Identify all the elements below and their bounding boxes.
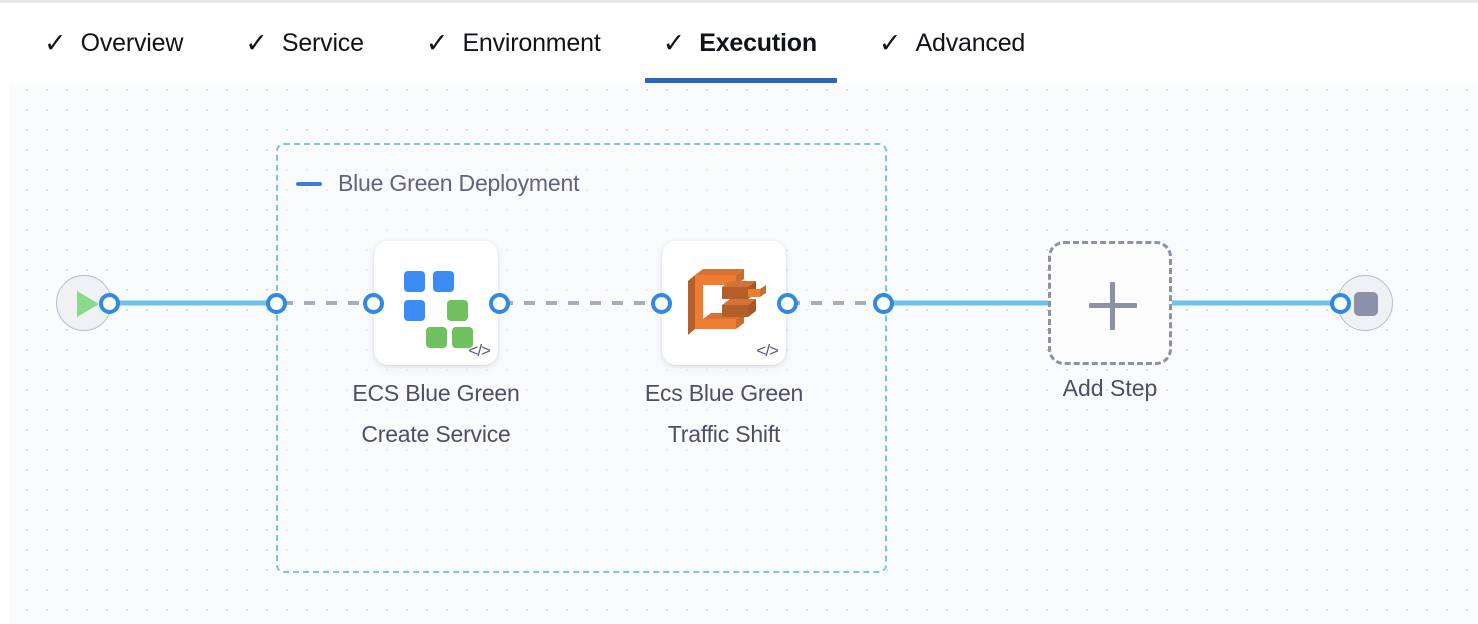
connector-dot-step2-in[interactable] <box>651 293 672 314</box>
add-step-node[interactable]: Add Step <box>1048 241 1172 365</box>
connector-dot-step1-in[interactable] <box>363 293 384 314</box>
check-icon: ✓ <box>879 30 902 57</box>
tab-environment[interactable]: ✓ Environment <box>426 3 601 83</box>
check-icon: ✓ <box>663 30 686 57</box>
connector-dot-step2-out[interactable] <box>777 293 798 314</box>
connector-dot-end-in[interactable] <box>1330 293 1351 314</box>
code-badge-icon: </> <box>468 341 490 361</box>
tab-advanced[interactable]: ✓ Advanced <box>879 3 1025 83</box>
pipeline-canvas[interactable]: Blue Green Deployment <box>0 83 1478 624</box>
step-label: Ecs Blue Green Traffic Shift <box>604 373 844 455</box>
step-group-title: Blue Green Deployment <box>338 170 579 197</box>
check-icon: ✓ <box>44 30 67 57</box>
check-icon: ✓ <box>426 30 449 57</box>
code-badge-icon: </> <box>756 341 778 361</box>
tab-execution[interactable]: ✓ Execution <box>663 3 817 83</box>
tab-service[interactable]: ✓ Service <box>245 3 364 83</box>
play-icon <box>77 291 99 317</box>
pipeline-execution-screen: ✓ Overview ✓ Service ✓ Environment ✓ Exe… <box>0 0 1478 624</box>
stop-icon <box>1354 292 1378 316</box>
tab-label: Advanced <box>916 29 1026 58</box>
step-label: ECS Blue Green Create Service <box>316 373 556 455</box>
wizard-tab-bar: ✓ Overview ✓ Service ✓ Environment ✓ Exe… <box>0 0 1478 83</box>
check-icon: ✓ <box>245 30 268 57</box>
ecs-blue-green-squares-icon <box>404 271 468 335</box>
step-node-ecs-blue-green-create-service[interactable]: </> ECS Blue Green Create Service <box>374 241 498 365</box>
step-group-header[interactable]: Blue Green Deployment <box>296 170 579 197</box>
tab-label: Service <box>282 29 364 58</box>
step-node-ecs-blue-green-traffic-shift[interactable]: </> Ecs Blue Green Traffic Shift <box>662 241 786 365</box>
connector-dot-group-in[interactable] <box>266 293 287 314</box>
plus-icon-vertical <box>1110 282 1115 330</box>
tab-overview[interactable]: ✓ Overview <box>44 3 183 83</box>
tab-label: Overview <box>81 29 184 58</box>
connector-dot-start-out[interactable] <box>99 293 120 314</box>
aws-ecs-icon <box>682 263 766 343</box>
tab-label: Execution <box>699 29 817 58</box>
minus-icon[interactable] <box>296 182 322 186</box>
tab-label: Environment <box>462 29 600 58</box>
step-group-container[interactable] <box>276 143 887 573</box>
add-step-button[interactable] <box>1048 241 1172 365</box>
connector-dot-group-out[interactable] <box>873 293 894 314</box>
connector-dot-step1-out[interactable] <box>489 293 510 314</box>
add-step-label: Add Step <box>1063 375 1158 402</box>
step-card[interactable]: </> <box>374 241 498 365</box>
step-card[interactable]: </> <box>662 241 786 365</box>
